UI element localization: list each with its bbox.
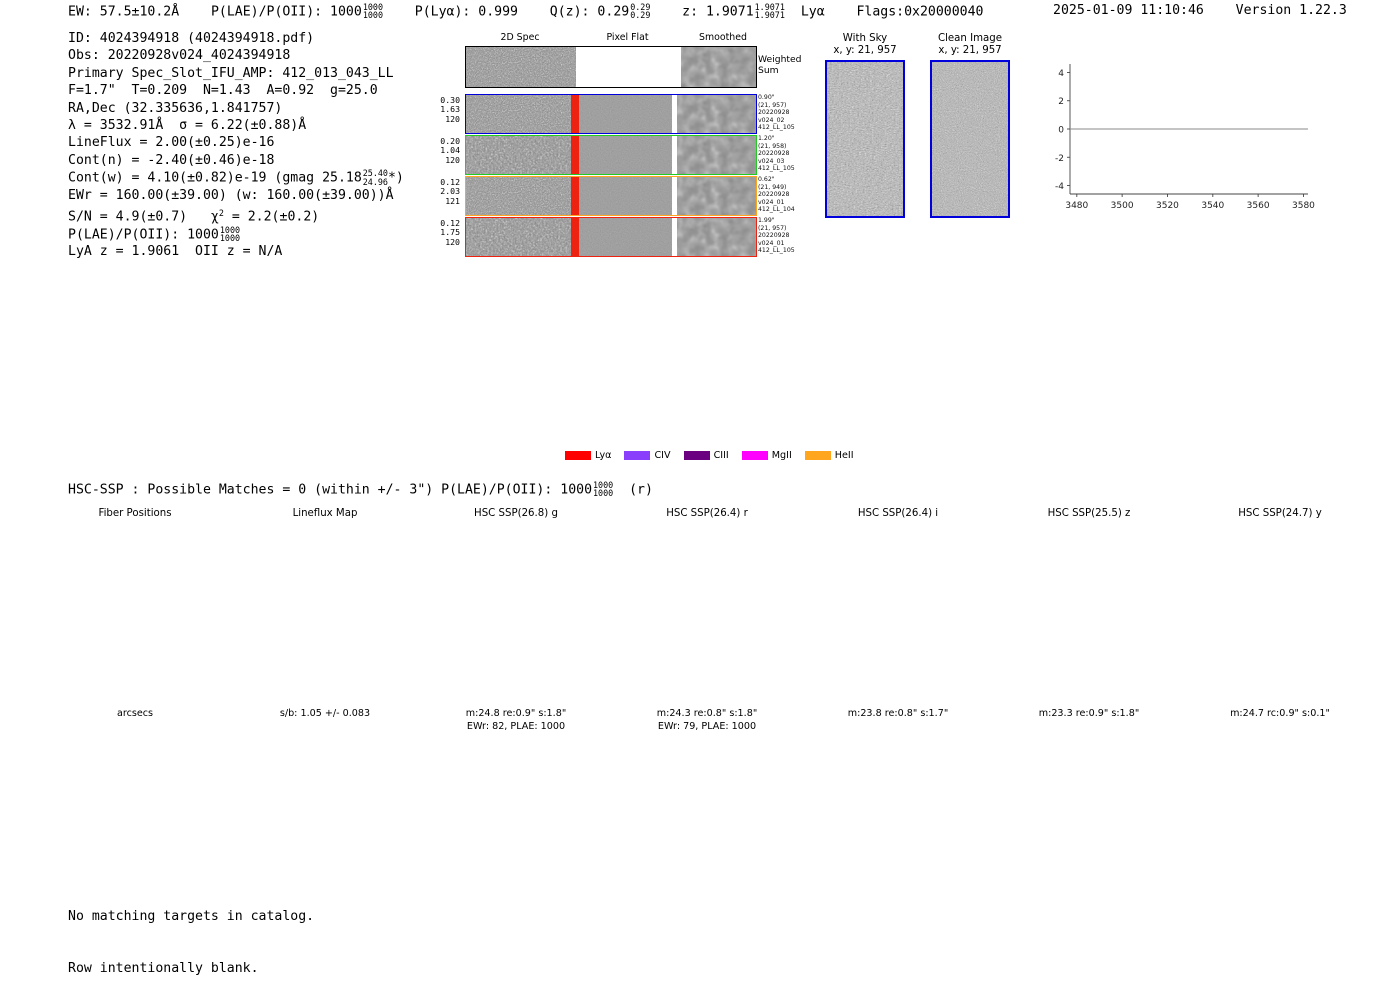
header-summary-line: EW: 57.5±10.2Å P(LAE)/P(OII): 1000100010… <box>68 3 983 20</box>
info-sn-chi2: S/N = 4.9(±0.7) χ2 = 2.2(±0.2) <box>68 205 404 226</box>
cutout-title: HSC SSP(24.7) y <box>1185 508 1375 520</box>
header-z-fraction: 1.90711.9071 <box>755 3 785 20</box>
col-title-smoothed: Smoothed <box>678 32 768 43</box>
cutout-row: Fiber Positions Lineflux Map HSC SSP(26.… <box>40 508 1380 733</box>
timestamp: 2025-01-09 11:10:46 <box>1053 3 1204 18</box>
header-ew: EW: 57.5±10.2Å <box>68 4 179 19</box>
exposure-strip <box>466 218 756 256</box>
with-sky-cutout: With Sky x, y: 21, 957 <box>820 33 910 218</box>
exposure-row <box>465 94 757 134</box>
hsc-g-svg <box>421 522 611 717</box>
cutout-caption: m:24.3 re:0.8" s:1.8" <box>612 708 802 720</box>
cutout-caption: m:24.7 rc:0.9" s:0.1" <box>1185 708 1375 720</box>
footer-line-1: No matching targets in catalog. <box>68 908 314 925</box>
clean-image-title-1: Clean Image <box>925 33 1015 45</box>
legend-swatch-heii <box>805 451 831 460</box>
exposure-strip <box>466 177 756 215</box>
footer-note: No matching targets in catalog. Row inte… <box>68 873 314 995</box>
svg-text:3560: 3560 <box>1247 201 1270 211</box>
clean-image-title-2: x, y: 21, 957 <box>925 45 1015 57</box>
header-z-suffix: Lyα <box>801 4 825 19</box>
header-z: z: 1.9071 <box>682 4 753 19</box>
spec2d-block: 2D Spec Pixel Flat Smoothed <box>420 32 780 257</box>
clean-image-cutout: Clean Image x, y: 21, 957 <box>925 33 1015 218</box>
hsc-filter-suffix: (r) <box>629 482 653 497</box>
exposure-row <box>465 217 757 257</box>
info-spec-slot: Primary Spec_Slot_IFU_AMP: 412_013_043_L… <box>68 65 404 82</box>
info-cont-n: Cont(n) = -2.40(±0.46)e-18 <box>68 152 404 169</box>
exposure-row-info: 0.62" (21, 949) 20220928 v024_01 412_LL_… <box>758 176 828 214</box>
svg-text:3480: 3480 <box>1065 201 1088 211</box>
with-sky-title-1: With Sky <box>820 33 910 45</box>
header-qz-fraction: 0.290.29 <box>630 3 650 20</box>
svg-text:2: 2 <box>1058 97 1064 107</box>
info-lineflux: LineFlux = 2.00(±0.25)e-16 <box>68 134 404 151</box>
full-spectrum-svg <box>88 300 1310 445</box>
cutout-title: HSC SSP(26.4) r <box>612 508 802 520</box>
header-plae-fraction: 10001000 <box>363 3 383 20</box>
cutout-hsc-g: HSC SSP(26.8) g <box>421 508 611 717</box>
exposure-row-labels: 0.30 1.63 120 <box>420 96 460 124</box>
hsc-i-svg <box>803 522 993 717</box>
cutout-title: HSC SSP(26.4) i <box>803 508 993 520</box>
line-fit-svg: -4-2024348035003520354035603580 <box>1032 54 1316 229</box>
header-plae: P(LAE)/P(OII): 1000 <box>211 4 362 19</box>
info-cont-w: Cont(w) = 4.10(±0.82)e-19 (gmag 25.1825.… <box>68 169 404 187</box>
info-lambda-sigma: λ = 3532.91Å σ = 6.22(±0.88)Å <box>68 117 404 134</box>
hsc-ssp-summary: HSC-SSP : Possible Matches = 0 (within +… <box>68 481 653 498</box>
info-plae: P(LAE)/P(OII): 100010001000 <box>68 226 404 244</box>
object-info-block: ID: 4024394918 (4024394918.pdf) Obs: 202… <box>68 30 404 261</box>
legend-item: HeII <box>805 450 854 461</box>
exposure-row-info: 1.99" (21, 957) 20220928 v024_01 412_LL_… <box>758 217 828 255</box>
clean-image <box>930 60 1010 218</box>
svg-text:-4: -4 <box>1055 182 1064 192</box>
full-spectrum-plot <box>88 300 1310 445</box>
cutout-hsc-z: HSC SSP(25.5) z <box>994 508 1184 717</box>
hsc-plae-fraction: 10001000 <box>593 481 613 498</box>
svg-text:-2: -2 <box>1055 154 1064 164</box>
cutout-caption: m:23.8 re:0.8" s:1.7" <box>803 708 993 720</box>
svg-text:4: 4 <box>1058 69 1064 79</box>
with-sky-title-2: x, y: 21, 957 <box>820 45 910 57</box>
info-id: ID: 4024394918 (4024394918.pdf) <box>68 30 404 47</box>
cutout-hsc-r: HSC SSP(26.4) r <box>612 508 802 717</box>
legend-label: HeII <box>835 450 854 461</box>
exposure-row <box>465 176 757 216</box>
cutout-caption: arcsecs <box>40 708 230 720</box>
weighted-sum-strip <box>466 47 756 87</box>
hsc-y-svg <box>1185 522 1375 717</box>
legend-swatch-mgii <box>742 451 768 460</box>
col-title-2dspec: 2D Spec <box>465 32 575 43</box>
legend-item: MgII <box>742 450 792 461</box>
exposure-strip <box>466 136 756 174</box>
legend-item: CIV <box>624 450 670 461</box>
exposure-row-labels: 0.12 1.75 120 <box>420 219 460 247</box>
legend-label: MgII <box>772 450 792 461</box>
legend-label: CIII <box>714 450 729 461</box>
info-fit-params: F=1.7" T=0.209 N=1.43 A=0.92 g=25.0 <box>68 82 404 99</box>
info-obs: Obs: 20220928v024_4024394918 <box>68 47 404 64</box>
svg-text:3580: 3580 <box>1292 201 1315 211</box>
svg-text:3500: 3500 <box>1111 201 1134 211</box>
cutout-caption-2: EWr: 79, PLAE: 1000 <box>612 721 802 733</box>
footer-line-2: Row intentionally blank. <box>68 960 314 977</box>
svg-text:3540: 3540 <box>1201 201 1224 211</box>
cutout-title: Fiber Positions <box>40 508 230 520</box>
exposure-row-info: 0.90" (21, 957) 20220928 v024_02 412_LL_… <box>758 94 828 132</box>
fiber-positions-svg <box>40 522 230 717</box>
cutout-fiber-positions: Fiber Positions <box>40 508 230 717</box>
legend-swatch-ciii <box>684 451 710 460</box>
cutout-hsc-i: HSC SSP(26.4) i <box>803 508 993 717</box>
hsc-z-svg <box>994 522 1184 717</box>
cutout-caption: m:23.3 re:0.9" s:1.8" <box>994 708 1184 720</box>
exposure-row-labels: 0.12 2.03 121 <box>420 178 460 206</box>
legend-swatch-civ <box>624 451 650 460</box>
col-title-pixelflat: Pixel Flat <box>575 32 680 43</box>
cutout-lineflux-map: Lineflux Map <box>230 508 420 717</box>
svg-text:0: 0 <box>1058 126 1064 136</box>
info-ewr: EWr = 160.00(±39.00) (w: 160.00(±39.00))… <box>68 187 404 204</box>
cutout-caption: s/b: 1.05 +/- 0.083 <box>230 708 420 720</box>
cutout-title: Lineflux Map <box>230 508 420 520</box>
hsc-line-text: HSC-SSP : Possible Matches = 0 (within +… <box>68 482 592 497</box>
info-plae-fraction: 10001000 <box>220 226 240 243</box>
header-timestamp-version: 2025-01-09 11:10:46 Version 1.22.3 <box>1053 3 1347 18</box>
header-plya: P(Lyα): 0.999 <box>415 4 518 19</box>
with-sky-image <box>825 60 905 218</box>
legend-item: CIII <box>684 450 729 461</box>
weighted-sum-row <box>465 46 757 88</box>
exposure-row <box>465 135 757 175</box>
cutout-title: HSC SSP(26.8) g <box>421 508 611 520</box>
exposure-row-labels: 0.20 1.04 120 <box>420 137 460 165</box>
spectrum-legend: Lyα CIV CIII MgII HeII <box>565 450 854 461</box>
legend-label: Lyα <box>595 450 611 461</box>
cutout-hsc-y: HSC SSP(24.7) y <box>1185 508 1375 717</box>
exposure-strip <box>466 95 756 133</box>
cutout-title: HSC SSP(25.5) z <box>994 508 1184 520</box>
version-label: Version 1.22.3 <box>1236 3 1347 18</box>
hsc-r-svg <box>612 522 802 717</box>
cutout-caption-2: EWr: 82, PLAE: 1000 <box>421 721 611 733</box>
info-redshifts: LyA z = 1.9061 OII z = N/A <box>68 243 404 260</box>
cutout-caption: m:24.8 re:0.9" s:1.8" <box>421 708 611 720</box>
weighted-sum-label: Weighted Sum <box>758 54 802 76</box>
gmag-fraction: 25.4024.96 <box>363 169 388 186</box>
legend-label: CIV <box>654 450 670 461</box>
header-flags: Flags:0x20000040 <box>856 4 983 19</box>
line-fit-plot: -4-2024348035003520354035603580 <box>1032 54 1316 229</box>
legend-swatch-lya <box>565 451 591 460</box>
header-qz: Q(z): 0.29 <box>550 4 629 19</box>
exposure-row-info: 1.20" (21, 958) 20220928 v024_03 412_LL_… <box>758 135 828 173</box>
lineflux-map-svg <box>230 522 420 717</box>
info-radec: RA,Dec (32.335636,1.841757) <box>68 100 404 117</box>
legend-item: Lyα <box>565 450 611 461</box>
svg-text:3520: 3520 <box>1156 201 1179 211</box>
